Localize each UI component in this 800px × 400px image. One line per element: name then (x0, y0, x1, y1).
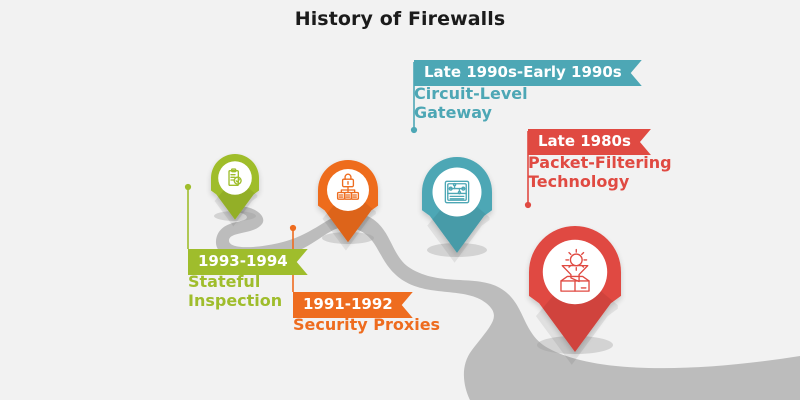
year-banner-circuit-level-gateway[interactable]: Late 1990s-Early 1990s (414, 60, 642, 86)
year-banner-packet-filtering-technology[interactable]: Late 1980s (528, 129, 651, 155)
milestone-label-stateful-inspection: Stateful Inspection (188, 272, 282, 310)
milestone-label-security-proxies: Security Proxies (293, 315, 440, 334)
label-layer: 1993-1994Stateful Inspection1991-1992Sec… (0, 0, 800, 400)
milestone-label-circuit-level-gateway: Circuit-Level Gateway (414, 84, 528, 122)
infographic-canvas: History of Firewalls 1993-1994Stateful I… (0, 0, 800, 400)
milestone-label-packet-filtering-technology: Packet-Filtering Technology (528, 153, 672, 191)
